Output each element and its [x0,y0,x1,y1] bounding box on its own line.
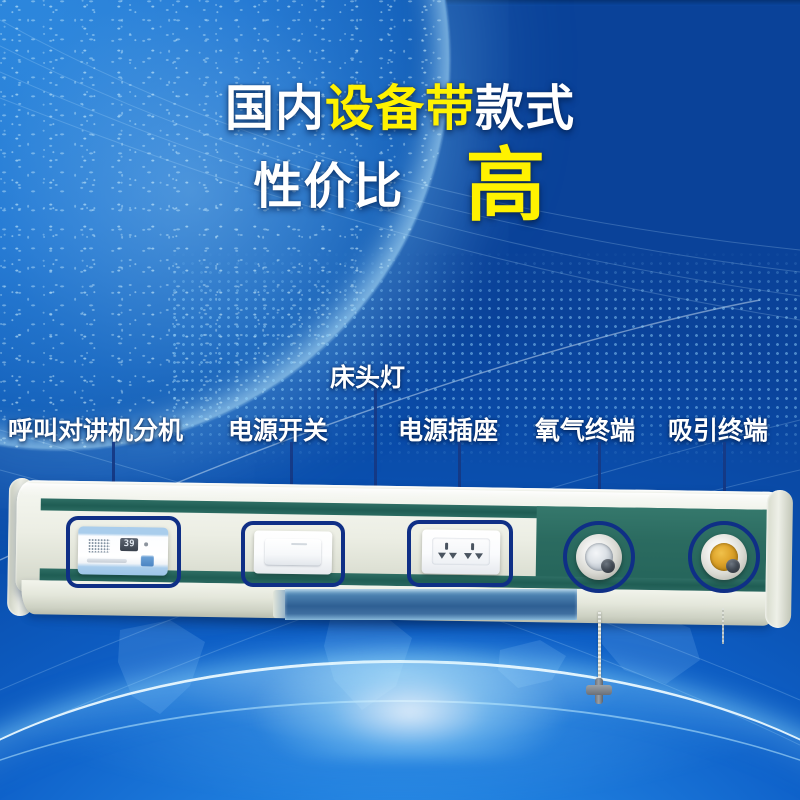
callout-label-oxygen-outlet: 氧气终端 [535,411,635,447]
callout-label-suction-outlet: 吸引终端 [668,411,768,447]
highlight-intercom [66,516,181,588]
highlight-suction-outlet [688,521,760,593]
highlight-power-socket [407,520,513,587]
highlight-oxygen-outlet [563,521,635,593]
secondary-cord [722,608,724,644]
bar-end-cap-right [765,490,793,628]
highlight-power-switch [241,521,345,587]
callout-label-bed-lamp: 床头灯 [330,358,405,394]
pull-cord[interactable] [598,612,601,684]
bed-lamp-diffuser[interactable] [285,589,577,620]
bottom-glow-core [250,640,570,760]
banner-stage: 国内设备带款式 性价比高 呼叫对讲机分机 电源开关 床头灯 电源插座 氧气终端 … [0,0,800,800]
pull-cord-handle-icon[interactable] [586,678,612,704]
callout-label-intercom: 呼叫对讲机分机 [8,411,183,447]
callout-label-power-socket: 电源插座 [398,411,498,447]
callout-label-power-switch: 电源开关 [228,411,328,447]
